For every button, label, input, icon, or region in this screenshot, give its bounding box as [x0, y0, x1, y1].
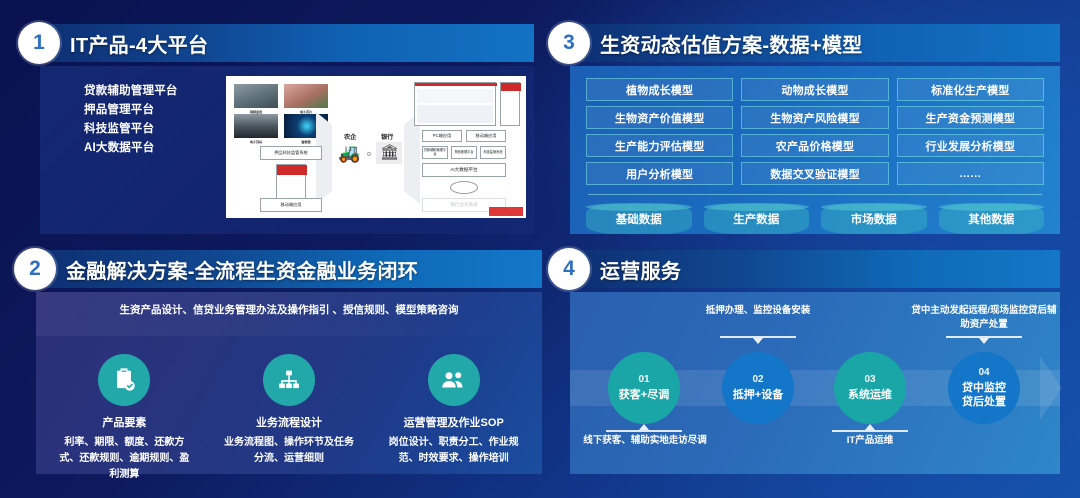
right-box: 押品管理平台: [451, 146, 477, 159]
model-grid: 植物成长模型 动物成长模型 标准化生产模型 生物资产价值模型 生物资产风险模型 …: [586, 78, 1044, 185]
model-cell[interactable]: 动物成长模型: [741, 78, 888, 101]
model-cell[interactable]: 植物成长模型: [586, 78, 733, 101]
model-cell[interactable]: 数据交叉验证模型: [741, 162, 888, 185]
photo-thumb: [284, 84, 328, 108]
quadrant2-header: 2 金融解决方案-全流程生资金融业务闭环: [14, 248, 542, 290]
vendor-logo: [489, 207, 523, 216]
data-pill[interactable]: 生产数据: [704, 204, 810, 234]
step-name: 获客+尽调: [619, 388, 669, 402]
quadrant2-subtitle-wrap: 生资产品设计、信贷业务管理办法及操作指引 、授信规则、模型策略咨询: [50, 302, 528, 318]
quadrant3-header: 3 生资动态估值方案-数据+模型: [548, 22, 1060, 64]
flow-arrow-head: [1040, 356, 1062, 420]
photo-thumb: [234, 114, 278, 138]
data-pill-row: 基础数据 生产数据 市场数据 其他数据: [586, 204, 1044, 234]
quadrant3-number-badge: 3: [548, 22, 590, 64]
center-label-bank: 银行: [381, 132, 393, 141]
step-tick: [865, 424, 875, 430]
step-number: 01: [638, 374, 649, 385]
flow-step-04[interactable]: 04 贷中监控 贷后处置: [948, 352, 1020, 424]
quadrant-financial-solution: 2 金融解决方案-全流程生资金融业务闭环 生资产品设计、信贷业务管理办法及操作指…: [14, 248, 542, 474]
step-note: 贷中主动发起远程/现场监控贷后辅助资产处置: [909, 304, 1059, 332]
slide-root: 1 IT产品-4大平台 贷款辅助管理平台 押品管理平台 科技监管平台 AI大数据…: [0, 0, 1080, 498]
people-icon: [428, 354, 480, 406]
model-cell[interactable]: 农产品价格模型: [741, 134, 888, 157]
quadrant1-header: 1 IT产品-4大平台: [18, 22, 534, 64]
quadrant2-subtitle: 生资产品设计、信贷业务管理办法及操作指引 、授信规则、模型策略咨询: [120, 304, 459, 316]
model-cell[interactable]: ……: [897, 162, 1044, 185]
step-name: 贷中监控 贷后处置: [962, 381, 1006, 409]
right-box: PC端应用: [422, 130, 462, 142]
quadrant3-title: 生资动态估值方案-数据+模型: [600, 29, 863, 58]
model-cell[interactable]: 生产能力评估模型: [586, 134, 733, 157]
photo-caption: 电子耳标: [234, 139, 278, 144]
quadrant2-number-badge: 2: [14, 248, 56, 290]
solution-column: 业务流程设计 业务流程图、操作环节及任务分流、运营细则: [207, 354, 372, 483]
quadrant4-title: 运营服务: [600, 255, 681, 284]
model-cell[interactable]: 行业发展分析模型: [897, 134, 1044, 157]
cycle-icon: [450, 181, 478, 194]
model-cell[interactable]: 用户分析模型: [586, 162, 733, 185]
quadrant1-title: IT产品-4大平台: [70, 29, 208, 58]
right-box: 贷款辅助管理平台: [422, 146, 448, 159]
quadrant2-columns: 产品要素 利率、期限、额度、还款方式、还款规则、逾期规则、盈利测算 业务流程: [42, 354, 536, 483]
quadrant1-number-badge: 1: [18, 22, 60, 64]
architecture-diagram-image: 视频监控 电子芯片 电子耳标 智能锁 押品科技监管系统 移动端应用 农企 银行 …: [226, 76, 526, 218]
quadrant4-header: 4 运营服务: [548, 248, 1060, 290]
quadrant4-body: 01 获客+尽调 线下获客、辅助实地走访尽调 02 抵押+设备 抵押办理、监控设…: [570, 292, 1060, 474]
photo-thumb: [234, 84, 278, 108]
model-cell[interactable]: 生物资产价值模型: [586, 106, 733, 129]
column-heading: 业务流程设计: [207, 414, 372, 430]
hierarchy-icon: [263, 354, 315, 406]
flow-step-02[interactable]: 02 抵押+设备: [722, 352, 794, 424]
column-detail: 利率、期限、额度、还款方式、还款规则、逾期规则、盈利测算: [42, 435, 207, 483]
bank-icon: 🏛: [380, 144, 399, 161]
step-number: 03: [864, 374, 875, 385]
data-pill[interactable]: 基础数据: [586, 204, 692, 234]
step-number: 02: [752, 374, 763, 385]
platform-item: AI大数据平台: [84, 139, 178, 158]
step-note: 线下获客、辅助实地走访尽调: [570, 434, 720, 448]
quadrant4-number-badge: 4: [548, 248, 590, 290]
solution-column: 产品要素 利率、期限、额度、还款方式、还款规则、逾期规则、盈利测算: [42, 354, 207, 483]
step-number: 04: [978, 367, 989, 378]
data-pill[interactable]: 其他数据: [939, 204, 1045, 234]
mobile-mock: [500, 82, 520, 126]
platform-list: 贷款辅助管理平台 押品管理平台 科技监管平台 AI大数据平台: [84, 82, 178, 158]
solution-column: 运营管理及作业SOP 岗位设计、职责分工、作业规范、时效要求、操作培训: [371, 354, 536, 483]
quadrant2-body: 生资产品设计、信贷业务管理办法及操作指引 、授信规则、模型策略咨询 产品要素 利…: [36, 292, 542, 474]
step-underline: [832, 430, 908, 432]
quadrant2-title: 金融解决方案-全流程生资金融业务闭环: [66, 255, 418, 284]
step-tick: [979, 338, 989, 344]
flow-step-01[interactable]: 01 获客+尽调: [608, 352, 680, 424]
left-box: 押品科技监管系统: [260, 146, 322, 160]
platform-item: 科技监管平台: [84, 120, 178, 139]
right-box-main: AI大数据平台: [422, 163, 506, 177]
center-label-enterprise: 农企: [344, 132, 356, 141]
quadrant3-body: 植物成长模型 动物成长模型 标准化生产模型 生物资产价值模型 生物资产风险模型 …: [570, 66, 1060, 234]
quadrant1-body: 贷款辅助管理平台 押品管理平台 科技监管平台 AI大数据平台 视频监控 电子芯片…: [40, 66, 534, 234]
right-box: 科技监管系统: [480, 146, 506, 159]
step-note: 抵押办理、监控设备安装: [683, 304, 833, 318]
photo-caption: 视频监控: [234, 109, 278, 114]
step-tick: [639, 424, 649, 430]
right-box: 移动端应用: [466, 130, 506, 142]
dashboard-mock: [414, 82, 496, 126]
quadrant-valuation-models: 3 生资动态估值方案-数据+模型 植物成长模型 动物成长模型 标准化生产模型 生…: [548, 22, 1060, 234]
divider: [588, 194, 1042, 195]
step-name: 系统运维: [848, 388, 892, 402]
column-heading: 运营管理及作业SOP: [371, 414, 536, 430]
connector-dot: [367, 152, 371, 156]
left-box: 移动端应用: [260, 198, 322, 212]
model-cell[interactable]: 生产资金预测模型: [897, 106, 1044, 129]
quadrant-it-products: 1 IT产品-4大平台 贷款辅助管理平台 押品管理平台 科技监管平台 AI大数据…: [18, 22, 534, 234]
platform-item: 贷款辅助管理平台: [84, 82, 178, 101]
model-cell[interactable]: 生物资产风险模型: [741, 106, 888, 129]
quadrant-operations-service: 4 运营服务 01 获客+尽调 线下获客、辅助实地走访尽调 02 抵押+设备: [548, 248, 1060, 474]
photo-caption: 电子芯片: [284, 109, 328, 114]
step-underline: [606, 430, 682, 432]
column-heading: 产品要素: [42, 414, 207, 430]
platform-item: 押品管理平台: [84, 101, 178, 120]
column-detail: 岗位设计、职责分工、作业规范、时效要求、操作培训: [371, 435, 536, 467]
flow-step-03[interactable]: 03 系统运维: [834, 352, 906, 424]
tractor-icon: 🚜: [338, 144, 360, 162]
step-name: 抵押+设备: [733, 388, 783, 402]
column-detail: 业务流程图、操作环节及任务分流、运营细则: [207, 435, 372, 467]
process-flow: 01 获客+尽调 线下获客、辅助实地走访尽调 02 抵押+设备 抵押办理、监控设…: [570, 292, 1060, 474]
step-note: IT产品运维: [795, 434, 945, 448]
model-cell[interactable]: 标准化生产模型: [897, 78, 1044, 101]
step-tick: [753, 338, 763, 344]
data-pill[interactable]: 市场数据: [821, 204, 927, 234]
clipboard-check-icon: [98, 354, 150, 406]
